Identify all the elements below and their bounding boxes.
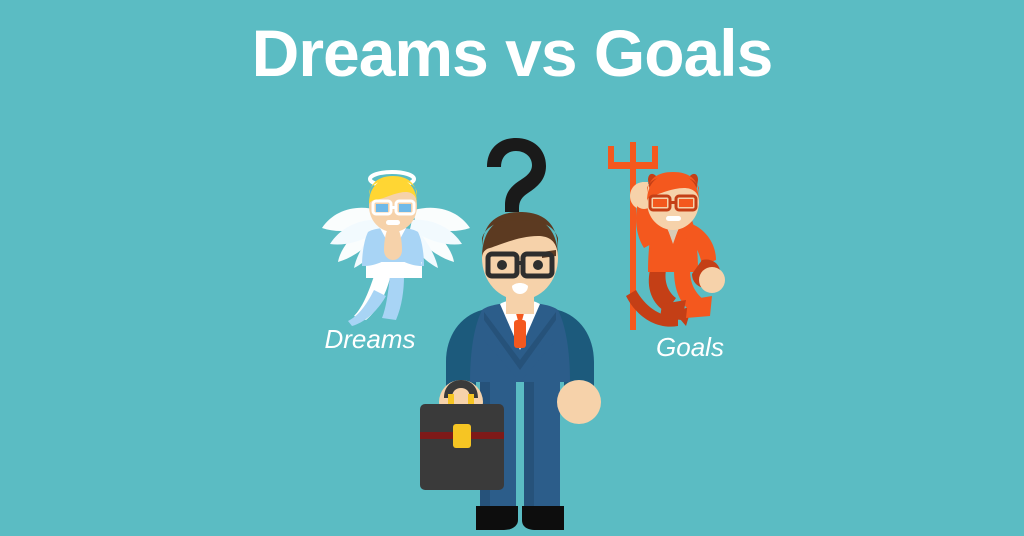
angel-head [369,176,417,232]
page-title: Dreams vs Goals [0,17,1024,89]
businessman-head [482,212,558,300]
businessman-shoes [476,506,564,530]
angel-lower-body [348,276,404,326]
illustration-canvas: Dreams vs Goals [0,0,1024,536]
businessman-figure [420,130,620,536]
figure-label-dreams: Dreams [310,324,430,354]
figure-label-goals: Goals [640,332,740,362]
devil-head [647,172,699,230]
